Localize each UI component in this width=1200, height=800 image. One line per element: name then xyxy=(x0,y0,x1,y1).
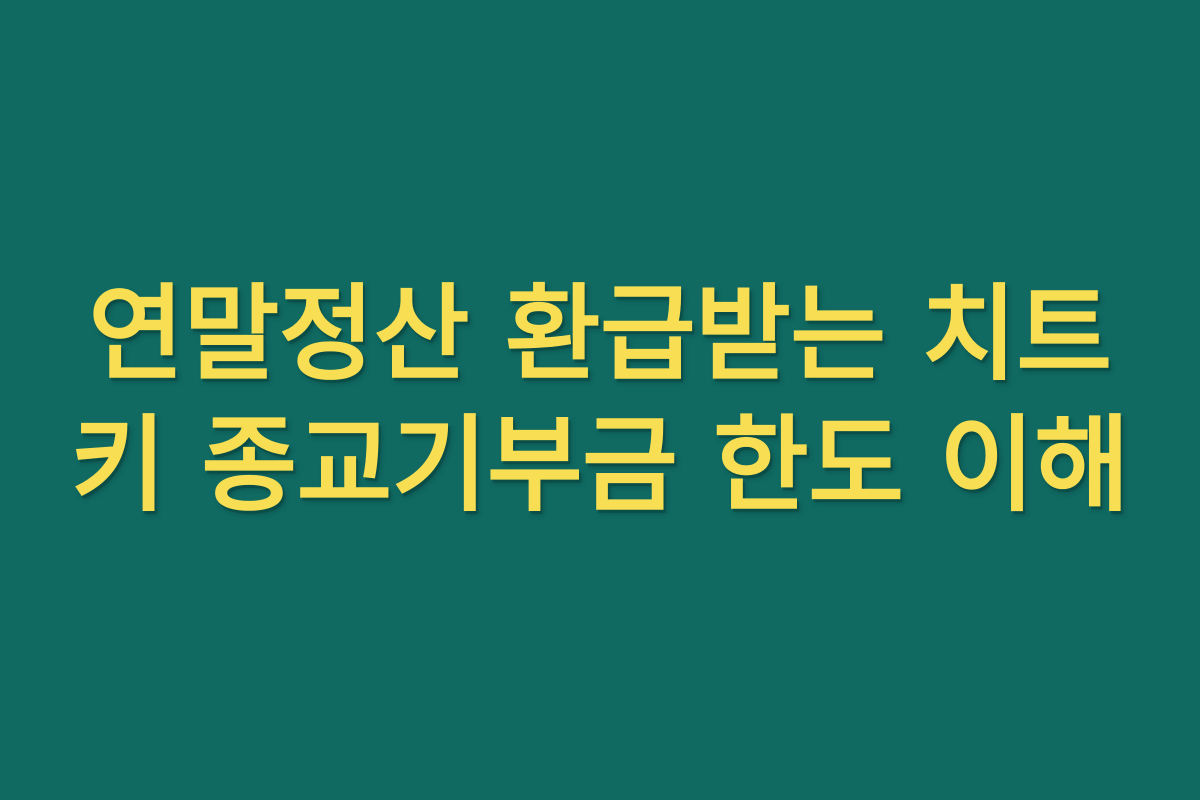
title-block: 연말정산 환급받는 치트 키 종교기부금 한도 이해 xyxy=(70,269,1130,531)
title-line-1: 연말정산 환급받는 치트 xyxy=(70,269,1130,400)
title-line-2: 키 종교기부금 한도 이해 xyxy=(70,400,1130,531)
thumbnail-card: 연말정산 환급받는 치트 키 종교기부금 한도 이해 xyxy=(0,0,1200,800)
